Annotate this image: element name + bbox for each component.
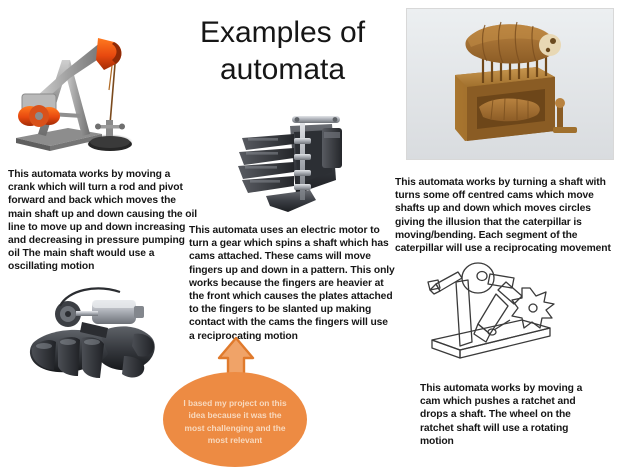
ratchet-mechanism-line-drawing [410,258,562,370]
robotic-hand-photo [236,108,342,220]
paragraph-robotic-hand: This automata uses an electric motor to … [189,224,395,343]
slide-canvas: Examples of automata [0,0,620,467]
wooden-caterpillar-automata-photo [406,8,614,160]
oil-pumpjack-photo [6,20,146,160]
paragraph-ratchet: This automata works by moving a cam whic… [420,382,600,448]
paragraph-caterpillar: This automata works by turning a shaft w… [395,176,617,255]
page-title-line-1: Examples of [150,14,415,51]
callout-badge: I based my project on this idea because … [163,372,307,467]
page-title-line-2: automata [150,51,415,88]
callout-text: I based my project on this idea because … [179,393,291,446]
paragraph-pumpjack: This automata works by moving a crank wh… [8,168,198,274]
page-title: Examples of automata [150,14,415,88]
robotic-hands-motor-photo [16,282,164,400]
